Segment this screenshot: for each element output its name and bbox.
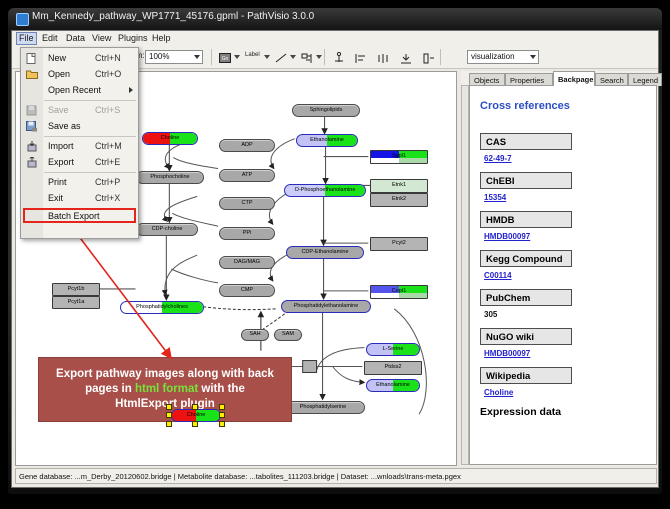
menu-item-exit[interactable]: Exit Ctrl+X [21,191,138,206]
menu-item-import[interactable]: Import Ctrl+M [21,139,138,154]
sidebar-tabs: Objects Properties Backpage Search Legen… [469,71,657,86]
node-sah[interactable]: SAH [241,329,269,341]
menu-item-new-label: New [48,53,66,63]
export-icon [26,157,38,168]
handle-nw[interactable] [166,404,172,410]
xref-link-nugo[interactable]: HMDB00097 [484,349,530,358]
node-gene-ptdss2[interactable]: Ptdss2 [364,361,422,375]
xref-link-hmdb[interactable]: HMDB00097 [484,232,530,241]
node-ethanolamine-top[interactable]: Ethanolamine [296,134,358,147]
menu-file[interactable]: File [16,32,37,45]
sidebar-scrollbar[interactable] [461,85,469,465]
right-sidebar: Objects Properties Backpage Search Legen… [461,71,657,466]
align-stack-button[interactable] [397,49,415,67]
backpage-panel: Cross references CAS 62-49-7 ChEBI 15354… [469,85,657,465]
node-phosphatidylethanolamine[interactable]: Phosphatidylethanolamine [281,300,371,313]
window-titlebar[interactable]: Mm_Kennedy_pathway_WP1771_45176.gpml - P… [8,8,662,30]
group-icon [423,53,435,64]
node-phosphocholine[interactable]: Phosphocholine [136,171,204,184]
menu-item-open-recent-label: Open Recent [48,85,101,95]
node-atp[interactable]: ATP [219,169,275,182]
menu-separator-1 [44,100,136,101]
menu-item-new[interactable]: New Ctrl+N [21,51,138,66]
callout-line1: Export pathway images along with back [56,368,274,380]
toolbar-separator-1 [211,49,212,65]
menu-item-print-accel: Ctrl+P [95,177,120,187]
node-gene-etnk1[interactable]: Etnk1 [370,179,428,193]
visualization-value: visualization [471,52,515,61]
node-adp[interactable]: ADP [219,139,275,152]
menu-item-export-label: Export [48,157,74,167]
menu-plugins[interactable]: Plugins [115,32,151,45]
node-cdp-ethanolamine[interactable]: CDP-Ethanolamine [286,246,364,259]
annotation-callout: Export pathway images along with back pa… [38,357,292,422]
receptor-icon [301,53,313,64]
toolbar-separator-2 [324,49,325,65]
receptor-dropdown-arrow-icon[interactable] [316,55,322,59]
node-cmp[interactable]: CMP [219,284,275,297]
menu-item-exit-label: Exit [48,193,63,203]
handle-e[interactable] [219,412,225,418]
pathvisio-icon [16,13,29,26]
toolbar-separator-3 [440,49,441,65]
window-client-area: File Edit Data View Plugins Help Zoom: 1… [11,30,659,488]
menu-item-import-label: Import [48,141,74,151]
node-gene-etnk2[interactable]: Etnk2 [370,193,428,207]
cross-references-heading: Cross references [480,100,570,112]
menu-separator-2 [44,136,136,137]
menu-item-import-accel: Ctrl+M [95,141,122,151]
callout-line2a: pages in [85,383,135,395]
tab-backpage[interactable]: Backpage [553,71,595,86]
node-cdp-choline[interactable]: CDP-choline [136,223,198,236]
align-center-icon [377,53,389,64]
menu-item-new-accel: Ctrl+N [95,53,121,63]
node-sam[interactable]: SAM [274,329,302,341]
node-dag-mag[interactable]: DAG/MAG [219,256,275,269]
xref-link-kegg[interactable]: C00114 [484,271,512,280]
window-title: Mm_Kennedy_pathway_WP1771_45176.gpml - P… [32,11,314,22]
xref-link-chebi[interactable]: 15354 [484,193,506,202]
handle-s[interactable] [192,421,198,427]
receptor-tool-button[interactable] [298,49,316,67]
save-disk-icon [26,105,38,116]
label-tool-text[interactable]: Label [245,52,260,58]
chevron-down-icon [530,55,536,59]
line-tool-button[interactable] [272,49,290,67]
anchor-tool-button[interactable] [330,49,348,67]
node-gene-sgpl1[interactable]: Sgpl1 [370,150,428,164]
status-bar: Gene database: ...m_Derby_20120602.bridg… [15,468,657,484]
menu-item-export-accel: Ctrl+E [95,157,120,167]
open-folder-icon [26,69,38,80]
node-phosphatidylcholines[interactable]: Phosphatidylcholines [120,301,204,314]
new-document-icon [26,53,38,64]
menu-item-save-accel: Ctrl+S [95,105,120,115]
xref-box-hmdb: HMDB [480,211,572,228]
xref-link-wikipedia[interactable]: Choline [484,388,513,397]
xref-box-pubchem: PubChem [480,289,572,306]
xref-box-kegg: Kegg Compound [480,250,572,267]
node-choline-top[interactable]: Choline [142,132,198,145]
xref-box-chebi: ChEBI [480,172,572,189]
menu-item-print-label: Print [48,177,67,187]
geneproduct-tool-button[interactable]: Gn [216,49,234,67]
menu-item-save-label: Save [48,105,69,115]
xref-box-wikipedia: Wikipedia [480,367,572,384]
zoom-value: 100% [149,52,169,61]
menubar: File Edit Data View Plugins Help [12,31,658,47]
handle-sw[interactable] [166,421,172,427]
chevron-right-icon [129,87,133,93]
handle-ne[interactable] [219,404,225,410]
visualization-combobox[interactable]: visualization [467,50,539,64]
expression-data-heading: Expression data [480,406,561,418]
node-ctp[interactable]: CTP [219,197,275,210]
selection-handles[interactable] [166,404,226,427]
zoom-combobox[interactable]: 100% [145,50,203,64]
menu-item-open-label: Open [48,69,70,79]
node-phosphatidylserine[interactable]: Phosphatidylserine [281,401,365,414]
import-icon [26,141,38,152]
menu-item-open-accel: Ctrl+O [95,69,121,79]
xref-box-cas: CAS [480,133,572,150]
handle-se[interactable] [219,421,225,427]
callout-line2b: with the [198,383,245,395]
menu-item-open-recent[interactable]: Open Recent [21,83,138,98]
node-gene-pcyt1b[interactable]: Pcyt1b [52,283,100,296]
menu-help[interactable]: Help [149,32,174,45]
menu-data[interactable]: Data [63,32,88,45]
svg-text:Gn: Gn [222,56,229,62]
menu-item-export[interactable]: Export Ctrl+E [21,155,138,170]
align-left-icon [355,53,367,64]
menu-item-save-as[interactable]: Save as [21,119,138,134]
node-gene-pcyt2[interactable]: Pcyt2 [370,237,428,251]
geneproduct-icon: Gn [219,53,231,63]
handle-w[interactable] [166,412,172,418]
group-button[interactable] [420,49,438,67]
handle-n[interactable] [192,404,198,410]
menu-separator-3 [44,172,136,173]
screenshot-root: Mm_Kennedy_pathway_WP1771_45176.gpml - P… [0,0,670,509]
file-menu-dropdown: New Ctrl+N Open Ctrl+O Open Recent Save … [20,47,139,239]
node-ethanolamine-bottom[interactable]: Ethanolamine [366,379,420,392]
batch-export-highlight [23,208,136,223]
menu-item-save-as-label: Save as [48,121,81,131]
xref-value-pubchem: 305 [484,310,497,319]
node-l-serine[interactable]: L-Serine [366,343,420,356]
node-o-phosphoethanolamine[interactable]: O-Phosphoethanolamine [284,184,366,197]
geneproduct-dropdown-arrow-icon[interactable] [234,55,240,59]
anchor-icon [333,52,345,64]
align-center-button[interactable] [374,49,392,67]
xref-box-nugo: NuGO wiki [480,328,572,345]
callout-line2-highlight: html format [135,383,198,395]
line-dropdown-arrow-icon[interactable] [290,55,296,59]
chevron-down-icon [194,55,200,59]
menu-item-print[interactable]: Print Ctrl+P [21,175,138,190]
xref-link-cas[interactable]: 62-49-7 [484,154,512,163]
line-icon [275,53,287,63]
menu-edit[interactable]: Edit [39,32,61,45]
align-left-button[interactable] [352,49,370,67]
annotation-callout-text: Export pathway images along with back pa… [56,367,274,412]
menu-item-open[interactable]: Open Ctrl+O [21,67,138,82]
menu-item-exit-accel: Ctrl+X [95,193,120,203]
node-gene-pcyt1a[interactable]: Pcyt1a [52,296,100,309]
align-stack-icon [400,53,412,64]
node-ppi[interactable]: PPi [219,227,275,240]
node-gene-cept1[interactable]: Cept1 [370,285,428,299]
label-dropdown-arrow-icon[interactable] [264,55,270,59]
application-window: Mm_Kennedy_pathway_WP1771_45176.gpml - P… [8,8,662,494]
save-as-icon [26,121,38,132]
menu-item-save: Save Ctrl+S [21,103,138,118]
node-sphingolipids[interactable]: Sphingolipids [292,104,360,117]
menu-view[interactable]: View [89,32,114,45]
